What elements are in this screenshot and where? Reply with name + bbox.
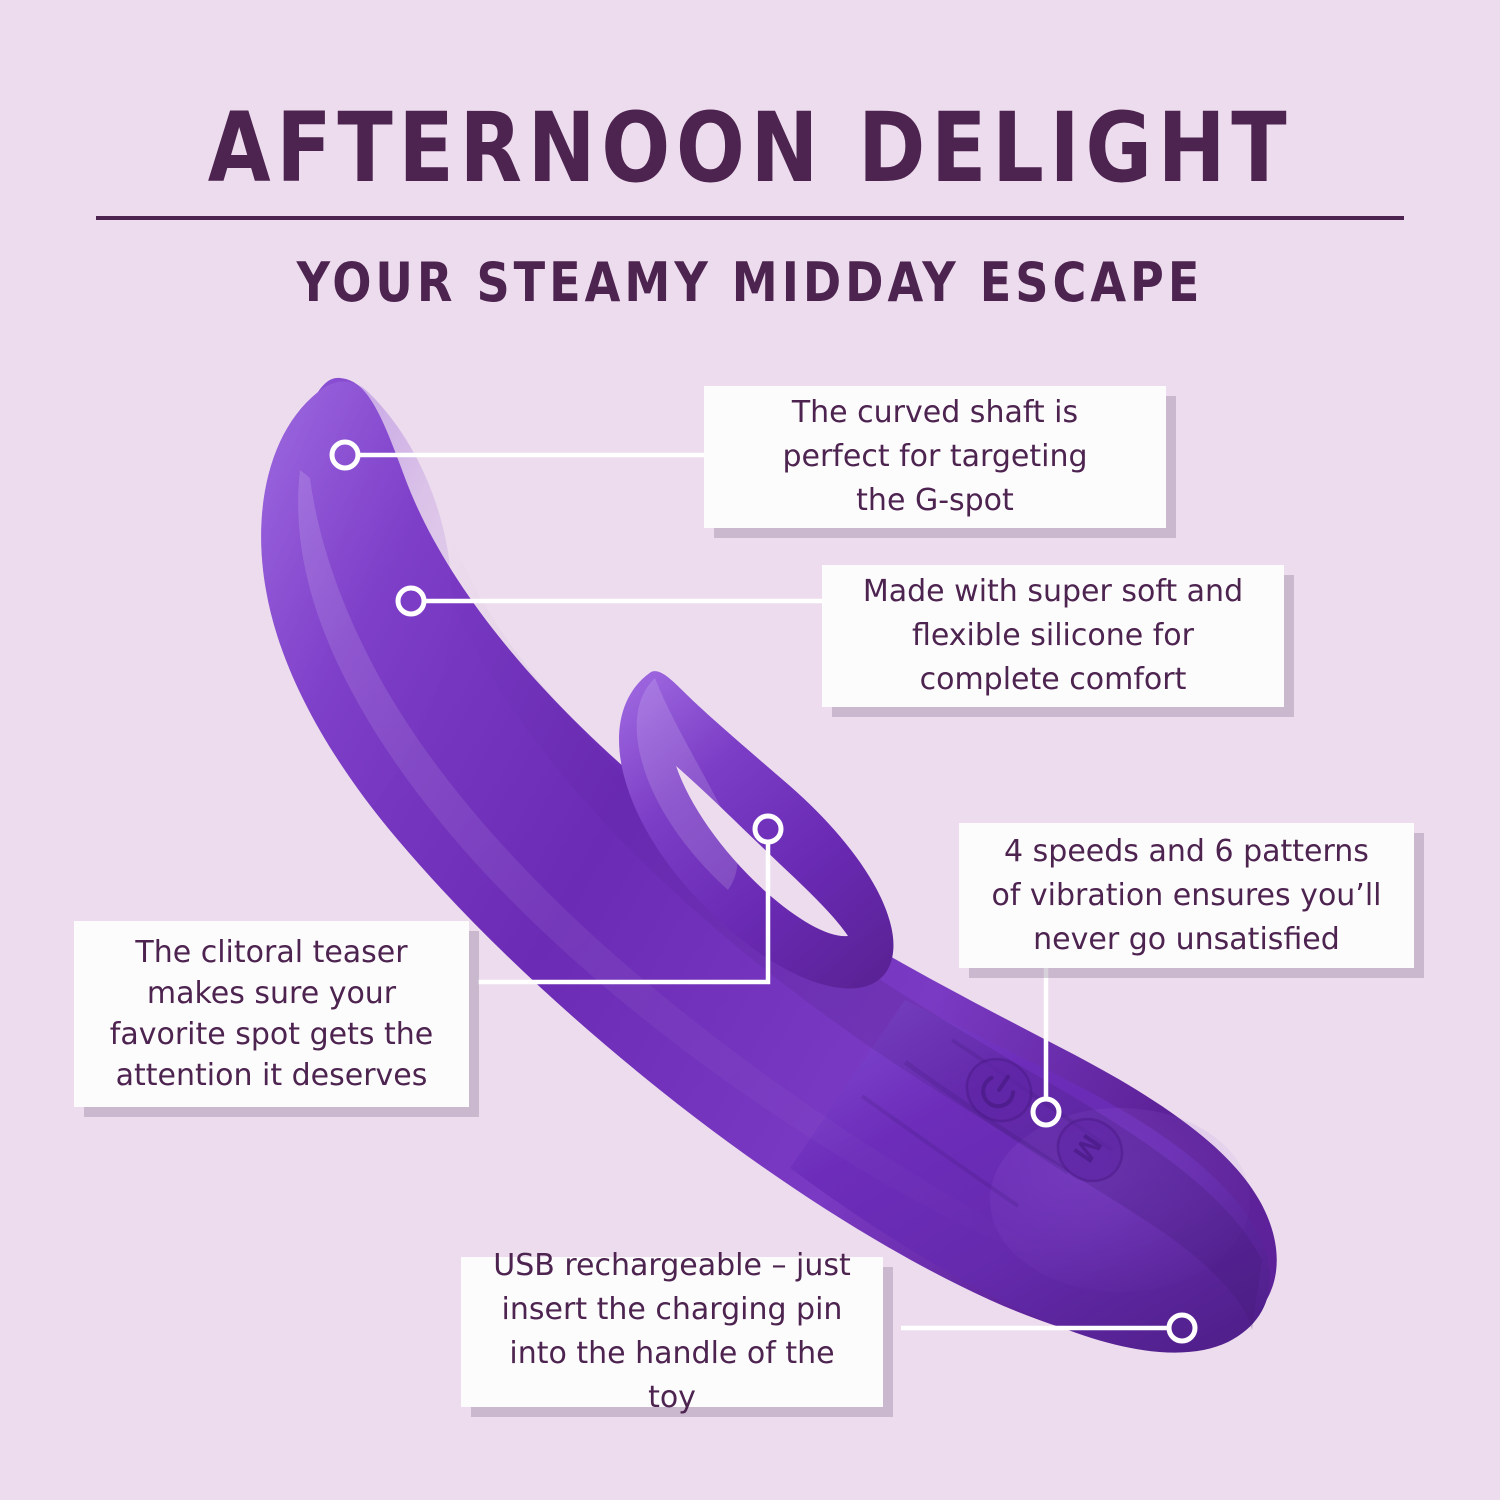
handle-seams <box>862 1040 1112 1206</box>
shaft-tip-highlight <box>261 381 452 808</box>
callout-text: 4 speeds and 6 patternsof vibration ensu… <box>991 830 1381 962</box>
leader-marker-shaft <box>332 442 358 468</box>
leader-marker-clitoral <box>755 816 781 842</box>
mode-button[interactable]: M <box>1046 1107 1134 1194</box>
title-divider <box>96 216 1404 220</box>
leader-marker-speeds <box>1033 1099 1059 1125</box>
control-buttons: M <box>955 1047 1134 1194</box>
power-button[interactable] <box>955 1047 1043 1134</box>
callout-text: Made with super soft andflexible silicon… <box>863 570 1243 702</box>
leader-marker-usb <box>1169 1315 1195 1341</box>
callout-silicone: Made with super soft andflexible silicon… <box>822 565 1284 707</box>
callout-text: USB rechargeable – justinsert the chargi… <box>483 1244 861 1420</box>
power-icon <box>977 1068 1020 1112</box>
leader-speeds <box>1033 968 1059 1125</box>
leader-silicone <box>398 588 822 614</box>
page-subtitle: YOUR STEAMY MIDDAY ESCAPE <box>38 252 1463 314</box>
mode-icon: M <box>1066 1128 1107 1167</box>
leader-shaft <box>332 442 704 468</box>
callout-clitoral-teaser: The clitoral teasermakes sure yourfavori… <box>74 921 469 1107</box>
page-title: AFTERNOON DELIGHT <box>45 96 1455 200</box>
leader-clitoral <box>478 816 781 982</box>
leader-usb <box>901 1315 1195 1341</box>
leader-marker-silicone <box>398 588 424 614</box>
handle-base-highlight <box>990 1108 1250 1292</box>
callout-text: The curved shaft isperfect for targeting… <box>782 391 1087 523</box>
callout-speeds-patterns: 4 speeds and 6 patternsof vibration ensu… <box>959 823 1414 968</box>
clitoral-teaser <box>619 671 893 988</box>
callout-usb-rechargeable: USB rechargeable – justinsert the chargi… <box>461 1257 883 1407</box>
callout-curved-shaft: The curved shaft isperfect for targeting… <box>704 386 1166 528</box>
infographic-canvas: AFTERNOON DELIGHT YOUR STEAMY MIDDAY ESC… <box>0 0 1500 1500</box>
teaser-highlight <box>637 678 738 890</box>
teaser-gap <box>676 766 848 936</box>
callout-text: The clitoral teasermakes sure yourfavori… <box>110 932 433 1096</box>
